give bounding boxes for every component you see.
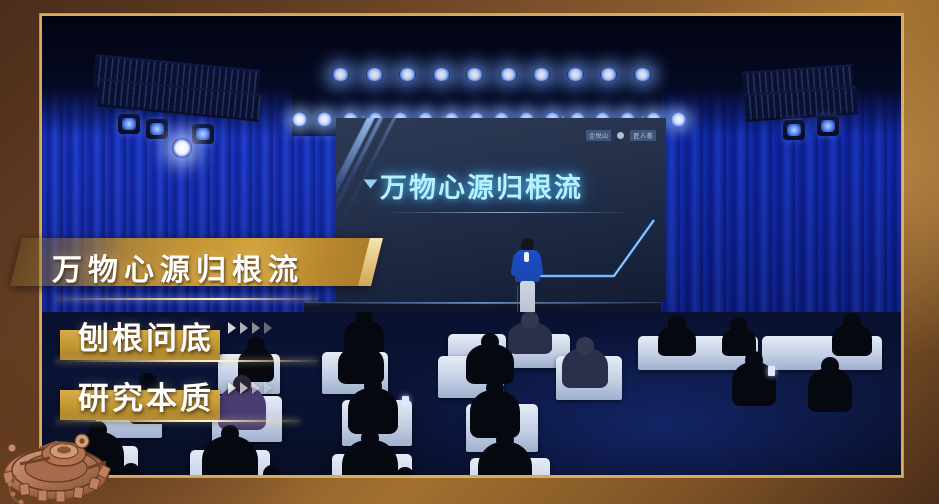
stage-lamp (399, 68, 416, 81)
audience-person (470, 390, 520, 438)
stage-lamp (634, 68, 651, 81)
stage-lamp (317, 112, 332, 127)
audience-area (42, 312, 901, 475)
par-light (146, 119, 168, 139)
par-light (783, 120, 805, 140)
stage-lamp (332, 68, 349, 81)
screen-brand-logos: 企悦山 匠人荟 (586, 130, 656, 141)
par-light (817, 116, 839, 136)
phone-screen (768, 366, 775, 376)
stage-lamp (600, 68, 617, 81)
photo-frame: 万物心源归根流 企悦山 匠人荟 (40, 14, 903, 477)
brand-chip-right: 匠人荟 (630, 130, 656, 141)
stage-lamp (533, 68, 550, 81)
steampunk-gear-ornament (0, 424, 124, 504)
upper-light-row (332, 64, 651, 84)
screen-title: 万物心源归根流 (380, 166, 583, 205)
microphone-icon (524, 252, 529, 262)
stage-lamp (366, 68, 383, 81)
phone-screen (402, 396, 409, 406)
audience-person (508, 322, 552, 354)
stage-lamp (567, 68, 584, 81)
audience-person (658, 326, 696, 356)
led-screen: 万物心源归根流 企悦山 匠人荟 (336, 118, 666, 302)
brand-dot-icon (617, 132, 624, 139)
audience-person (348, 388, 398, 434)
par-light (192, 124, 214, 144)
stage-edge-light (304, 302, 661, 304)
spotlight (172, 138, 192, 158)
stage-lamp (500, 68, 517, 81)
screenshot-root: 万物心源归根流 企悦山 匠人荟 (0, 0, 939, 504)
stage-lamp (433, 68, 450, 81)
audience-person (218, 386, 266, 430)
stage-lamp (466, 68, 483, 81)
brand-chip-left: 企悦山 (586, 130, 612, 141)
audience-person (202, 436, 258, 475)
screen-swoosh-graphic (528, 204, 658, 284)
stage-lamp (671, 112, 686, 127)
audience-person (808, 368, 852, 412)
par-light (118, 114, 140, 134)
presenter-leg-split (517, 286, 518, 312)
presenter (510, 238, 544, 320)
audience-person (466, 344, 514, 384)
audience-person (128, 384, 168, 424)
audience-person (562, 348, 608, 388)
audience-person (832, 324, 872, 356)
triangle-marker-icon (364, 180, 378, 189)
stage-lamp (292, 112, 307, 127)
stage-photo: 万物心源归根流 企悦山 匠人荟 (42, 16, 901, 475)
presenter-legs (520, 281, 535, 314)
